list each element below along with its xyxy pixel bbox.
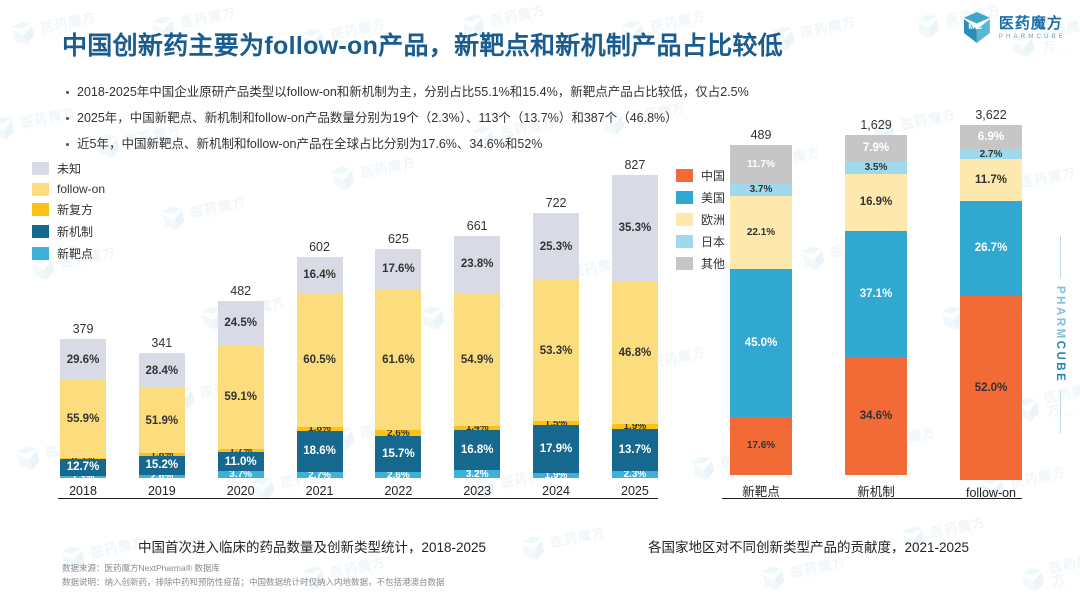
bar-segment-中国[interactable]: 34.6% xyxy=(845,357,907,475)
bar-segment-未知[interactable]: 16.4% xyxy=(297,257,343,293)
left-chart-plot: 37929.6%55.9%0.5%12.7%1.3%201834128.4%51… xyxy=(58,168,658,498)
bar-segment-未知[interactable]: 25.3% xyxy=(533,213,579,280)
segment-value-label: 29.6% xyxy=(67,354,100,366)
bar-segment-美国[interactable]: 45.0% xyxy=(730,269,792,417)
segment-value-label: 1.3% xyxy=(72,476,95,478)
segment-value-label: 22.1% xyxy=(747,227,775,238)
bar-segment-新机制[interactable]: 18.6% xyxy=(297,431,343,472)
bar-segment-新靶点[interactable]: 2.3% xyxy=(612,471,658,478)
legend-item-新复方[interactable]: 新复方 xyxy=(32,201,105,218)
legend-swatch-icon xyxy=(676,213,693,226)
segment-value-label: 60.5% xyxy=(303,354,336,366)
legend-swatch-icon xyxy=(32,225,49,238)
brand-name-en: PHARMCUBE xyxy=(999,34,1066,40)
x-axis-label: 2021 xyxy=(306,484,334,498)
bar-segment-日本[interactable]: 2.7% xyxy=(960,149,1022,159)
divider-line-top xyxy=(1060,236,1061,278)
bar-segment-follow-on[interactable]: 60.5% xyxy=(297,293,343,427)
legend-swatch-icon xyxy=(32,203,49,216)
stacked-bar[interactable]: 35.3%46.8%1.9%13.7%2.3% xyxy=(612,175,658,478)
footnote-source: 数据来源：医药魔方NextPharma® 数据库 xyxy=(62,562,445,576)
stacked-bar[interactable]: 17.6%61.6%2.6%15.7%2.6% xyxy=(375,249,421,478)
segment-value-label: 46.8% xyxy=(619,347,652,359)
segment-value-label: 51.9% xyxy=(146,415,179,427)
bar-column-follow-on[interactable]: 3,6226.9%2.7%11.7%26.7%52.0%follow-on xyxy=(960,120,1022,500)
segment-value-label: 1.9% xyxy=(545,473,568,478)
legend-item-欧洲[interactable]: 欧洲 xyxy=(676,211,725,228)
segment-value-label: 25.3% xyxy=(540,241,573,253)
bar-segment-follow-on[interactable]: 55.9% xyxy=(60,380,106,458)
bar-column-2024[interactable]: 72225.3%53.3%1.5%17.9%1.9%2024 xyxy=(533,148,579,498)
stacked-bar[interactable]: 28.4%51.9%1.8%15.2%2.6% xyxy=(139,353,185,478)
segment-value-label: 54.9% xyxy=(461,354,494,366)
segment-value-label: 52.0% xyxy=(975,382,1008,394)
bar-segment-新机制[interactable]: 17.9% xyxy=(533,425,579,472)
segment-value-label: 17.6% xyxy=(382,263,415,275)
segment-value-label: 55.9% xyxy=(67,413,100,425)
bar-segment-未知[interactable]: 23.8% xyxy=(454,236,500,294)
bar-segment-美国[interactable]: 26.7% xyxy=(960,201,1022,296)
bar-segment-未知[interactable]: 29.6% xyxy=(60,339,106,380)
segment-value-label: 3.7% xyxy=(229,471,252,478)
segment-value-label: 6.9% xyxy=(978,131,1004,143)
bullet-dot-icon xyxy=(66,143,69,146)
cube-logo-letters: MC xyxy=(962,24,992,31)
legend-swatch-icon xyxy=(32,247,49,260)
legend-item-follow-on[interactable]: follow-on xyxy=(32,182,105,196)
segment-value-label: 37.1% xyxy=(860,288,893,300)
bar-segment-新靶点[interactable]: 3.2% xyxy=(454,470,500,478)
legend-label: 日本 xyxy=(701,233,725,250)
segment-value-label: 15.7% xyxy=(382,448,415,460)
bar-segment-新机制[interactable]: 11.0% xyxy=(218,452,264,471)
segment-value-label: 18.6% xyxy=(303,445,336,457)
legend-label: 新靶点 xyxy=(57,245,93,262)
bar-total-label: 482 xyxy=(218,284,264,298)
x-axis-label: 2024 xyxy=(542,484,570,498)
watermark: 医药魔方PHARMCUBE xyxy=(518,521,609,565)
segment-value-label: 15.2% xyxy=(146,459,179,471)
legend-swatch-icon xyxy=(676,191,693,204)
segment-value-label: 17.9% xyxy=(540,443,573,455)
legend-label: 未知 xyxy=(57,160,81,177)
segment-value-label: 24.5% xyxy=(224,317,257,329)
segment-value-label: 23.8% xyxy=(461,258,494,270)
sidebar-brand-text: PHARMCUBE xyxy=(1054,286,1066,383)
segment-value-label: 61.6% xyxy=(382,354,415,366)
legend-right-chart: 中国美国欧洲日本其他 xyxy=(676,167,725,277)
bullet-dot-icon xyxy=(66,91,69,94)
bar-column-2023[interactable]: 66123.8%54.9%1.4%16.8%3.2%2023 xyxy=(454,148,500,498)
bullet-item: 2025年，中国新靶点、新机制和follow-on产品数量分别为19个（2.3%… xyxy=(66,110,966,127)
x-axis-label: 2022 xyxy=(384,484,412,498)
bar-segment-follow-on[interactable]: 46.8% xyxy=(612,282,658,424)
left-chart-axis xyxy=(58,498,658,499)
bar-total-label: 602 xyxy=(297,240,343,254)
stacked-bar[interactable]: 25.3%53.3%1.5%17.9%1.9% xyxy=(533,213,579,478)
legend-item-其他[interactable]: 其他 xyxy=(676,255,725,272)
bar-segment-中国[interactable]: 52.0% xyxy=(960,295,1022,480)
bar-segment-欧洲[interactable]: 11.7% xyxy=(960,159,1022,201)
stacked-bar[interactable]: 6.9%2.7%11.7%26.7%52.0% xyxy=(960,125,1022,480)
segment-value-label: 16.9% xyxy=(860,196,893,208)
x-axis-label: 2025 xyxy=(621,484,649,498)
footnote-description: 数据说明：纳入创新药，排除中药和预防性疫苗；中国数据统计时仅纳入内地数据，不包括… xyxy=(62,576,445,590)
divider-line-bottom xyxy=(1060,391,1061,433)
legend-label: follow-on xyxy=(57,182,105,196)
slide-root: 医药魔方PHARMCUBE医药魔方PHARMCUBE医药魔方PHARMCUBE医… xyxy=(0,0,1080,608)
x-axis-label: 2023 xyxy=(463,484,491,498)
right-chart-plot: 48911.7%3.7%22.1%45.0%17.6%新靶点1,6297.9%3… xyxy=(722,140,1022,500)
sidebar-brand-part1: PHARM xyxy=(1054,286,1066,341)
legend-label: 其他 xyxy=(701,255,725,272)
segment-value-label: 3.2% xyxy=(466,470,489,478)
segment-value-label: 35.3% xyxy=(619,222,652,234)
right-chart-caption: 各国家地区对不同创新类型产品的贡献度，2021-2025 xyxy=(648,536,969,556)
bar-segment-其他[interactable]: 6.9% xyxy=(960,125,1022,149)
segment-value-label: 28.4% xyxy=(146,365,179,377)
bar-segment-follow-on[interactable]: 59.1% xyxy=(218,345,264,449)
right-chart-axis xyxy=(722,498,1022,499)
bar-segment-未知[interactable]: 35.3% xyxy=(612,175,658,282)
segment-value-label: 2.3% xyxy=(624,471,647,478)
x-axis-label: 2019 xyxy=(148,484,176,498)
bar-segment-新靶点[interactable]: 2.6% xyxy=(375,472,421,478)
bar-column-2020[interactable]: 48224.5%59.1%1.7%11.0%3.7%2020 xyxy=(218,148,264,498)
segment-value-label: 12.7% xyxy=(67,461,100,473)
bar-total-label: 3,622 xyxy=(960,108,1022,122)
bar-segment-欧洲[interactable]: 22.1% xyxy=(730,196,792,269)
footnotes: 数据来源：医药魔方NextPharma® 数据库 数据说明：纳入创新药，排除中药… xyxy=(62,562,445,589)
legend-label: 欧洲 xyxy=(701,211,725,228)
legend-item-新靶点[interactable]: 新靶点 xyxy=(32,245,105,262)
segment-value-label: 16.8% xyxy=(461,444,494,456)
stacked-bar[interactable]: 29.6%55.9%0.5%12.7%1.3% xyxy=(60,339,106,478)
bar-total-label: 341 xyxy=(139,336,185,350)
legend-label: 新复方 xyxy=(57,201,93,218)
bar-segment-新靶点[interactable]: 1.3% xyxy=(60,476,106,478)
bar-segment-中国[interactable]: 17.6% xyxy=(730,417,792,475)
bar-segment-未知[interactable]: 28.4% xyxy=(139,353,185,389)
segment-value-label: 16.4% xyxy=(303,269,336,281)
bar-segment-新机制[interactable]: 15.2% xyxy=(139,456,185,475)
watermark: 医药魔方PHARMCUBE xyxy=(758,551,849,595)
legend-label: 新机制 xyxy=(57,223,93,240)
bar-segment-新机制[interactable]: 13.7% xyxy=(612,429,658,471)
legend-swatch-icon xyxy=(32,183,49,196)
segment-value-label: 53.3% xyxy=(540,345,573,357)
bar-column-新靶点[interactable]: 48911.7%3.7%22.1%45.0%17.6%新靶点 xyxy=(730,115,792,500)
bar-segment-新靶点[interactable]: 2.6% xyxy=(139,475,185,478)
segment-value-label: 2.6% xyxy=(150,475,173,478)
segment-value-label: 34.6% xyxy=(860,410,893,422)
bar-column-2022[interactable]: 62517.6%61.6%2.6%15.7%2.6%2022 xyxy=(375,148,421,498)
bar-total-label: 661 xyxy=(454,219,500,233)
segment-value-label: 45.0% xyxy=(745,337,778,349)
watermark: 医药魔方PHARMCUBE xyxy=(1018,552,1080,598)
legend-item-中国[interactable]: 中国 xyxy=(676,167,725,184)
bar-segment-follow-on[interactable]: 54.9% xyxy=(454,293,500,426)
segment-value-label: 3.7% xyxy=(750,184,773,195)
stacked-bar[interactable]: 11.7%3.7%22.1%45.0%17.6% xyxy=(730,145,792,475)
watermark: 医药魔方PHARMCUBE xyxy=(1013,382,1080,428)
bar-segment-follow-on[interactable]: 61.6% xyxy=(375,289,421,430)
bar-segment-未知[interactable]: 17.6% xyxy=(375,249,421,289)
bullet-item: 2018-2025年中国企业原研产品类型以follow-on和新机制为主，分别占… xyxy=(66,84,966,101)
bullet-text: 2018-2025年中国企业原研产品类型以follow-on和新机制为主，分别占… xyxy=(77,84,749,101)
segment-value-label: 3.5% xyxy=(865,162,888,173)
stacked-bar[interactable]: 23.8%54.9%1.4%16.8%3.2% xyxy=(454,236,500,478)
bullet-text: 近5年，中国新靶点、新机制和follow-on产品在全球占比分别为17.6%、3… xyxy=(77,136,542,153)
bullet-item: 近5年，中国新靶点、新机制和follow-on产品在全球占比分别为17.6%、3… xyxy=(66,136,966,153)
bullet-dot-icon xyxy=(66,117,69,120)
bar-segment-美国[interactable]: 37.1% xyxy=(845,231,907,357)
page-title: 中国创新药主要为follow-on产品，新靶点和新机制产品占比较低 xyxy=(62,26,942,62)
segment-value-label: 11.7% xyxy=(975,174,1007,186)
segment-value-label: 11.0% xyxy=(225,456,257,468)
bar-column-新机制[interactable]: 1,6297.9%3.5%16.9%37.1%34.6%新机制 xyxy=(845,115,907,500)
bar-total-label: 625 xyxy=(375,232,421,246)
brand-name-cn: 医药魔方 xyxy=(999,16,1066,33)
stacked-bar[interactable]: 7.9%3.5%16.9%37.1%34.6% xyxy=(845,135,907,475)
bar-segment-新靶点[interactable]: 2.7% xyxy=(297,472,343,478)
bar-column-2019[interactable]: 34128.4%51.9%1.8%15.2%2.6%2019 xyxy=(139,148,185,498)
segment-value-label: 13.7% xyxy=(619,444,652,456)
bar-segment-follow-on[interactable]: 53.3% xyxy=(533,280,579,421)
bar-segment-新机制[interactable]: 15.7% xyxy=(375,436,421,472)
cube-logo-icon: MC xyxy=(962,12,992,44)
segment-value-label: 26.7% xyxy=(975,242,1008,254)
stacked-bar[interactable]: 24.5%59.1%1.7%11.0%3.7% xyxy=(218,301,264,478)
bar-column-2021[interactable]: 60216.4%60.5%1.8%18.6%2.7%2021 xyxy=(297,148,343,498)
segment-value-label: 59.1% xyxy=(224,391,257,403)
legend-item-美国[interactable]: 美国 xyxy=(676,189,725,206)
legend-item-未知[interactable]: 未知 xyxy=(32,160,105,177)
legend-item-日本[interactable]: 日本 xyxy=(676,233,725,250)
bar-segment-欧洲[interactable]: 16.9% xyxy=(845,174,907,231)
legend-label: 美国 xyxy=(701,189,725,206)
sidebar-vertical-brand: PHARMCUBE xyxy=(1054,236,1066,433)
bullet-text: 2025年，中国新靶点、新机制和follow-on产品数量分别为19个（2.3%… xyxy=(77,110,678,127)
bar-column-2025[interactable]: 82735.3%46.8%1.9%13.7%2.3%2025 xyxy=(612,148,658,498)
bullet-list: 2018-2025年中国企业原研产品类型以follow-on和新机制为主，分别占… xyxy=(66,84,966,162)
legend-left-chart: 未知follow-on新复方新机制新靶点 xyxy=(32,160,105,267)
bar-segment-新靶点[interactable]: 1.9% xyxy=(533,473,579,478)
legend-swatch-icon xyxy=(32,162,49,175)
legend-swatch-icon xyxy=(676,257,693,270)
x-axis-label: 2020 xyxy=(227,484,255,498)
segment-value-label: 2.7% xyxy=(308,472,331,478)
segment-value-label: 2.6% xyxy=(387,472,410,478)
bar-total-label: 722 xyxy=(533,196,579,210)
segment-value-label: 2.7% xyxy=(980,149,1003,159)
x-axis-label: 2018 xyxy=(69,484,97,498)
sidebar-brand-part2: CUBE xyxy=(1054,341,1066,384)
left-chart-caption: 中国首次进入临床的药品数量及创新类型统计，2018-2025 xyxy=(138,536,486,556)
bar-segment-follow-on[interactable]: 51.9% xyxy=(139,388,185,453)
legend-swatch-icon xyxy=(676,169,693,182)
bar-segment-日本[interactable]: 3.5% xyxy=(845,162,907,174)
bar-segment-日本[interactable]: 3.7% xyxy=(730,184,792,196)
stacked-bar[interactable]: 16.4%60.5%1.8%18.6%2.7% xyxy=(297,257,343,478)
bar-segment-新机制[interactable]: 12.7% xyxy=(60,459,106,477)
bar-segment-未知[interactable]: 24.5% xyxy=(218,301,264,344)
bar-segment-新靶点[interactable]: 3.7% xyxy=(218,471,264,478)
legend-swatch-icon xyxy=(676,235,693,248)
legend-label: 中国 xyxy=(701,167,725,184)
bar-segment-新机制[interactable]: 16.8% xyxy=(454,430,500,471)
legend-item-新机制[interactable]: 新机制 xyxy=(32,223,105,240)
bar-total-label: 379 xyxy=(60,322,106,336)
brand-logo: MC 医药魔方 PHARMCUBE xyxy=(962,12,1066,44)
segment-value-label: 17.6% xyxy=(747,440,775,451)
